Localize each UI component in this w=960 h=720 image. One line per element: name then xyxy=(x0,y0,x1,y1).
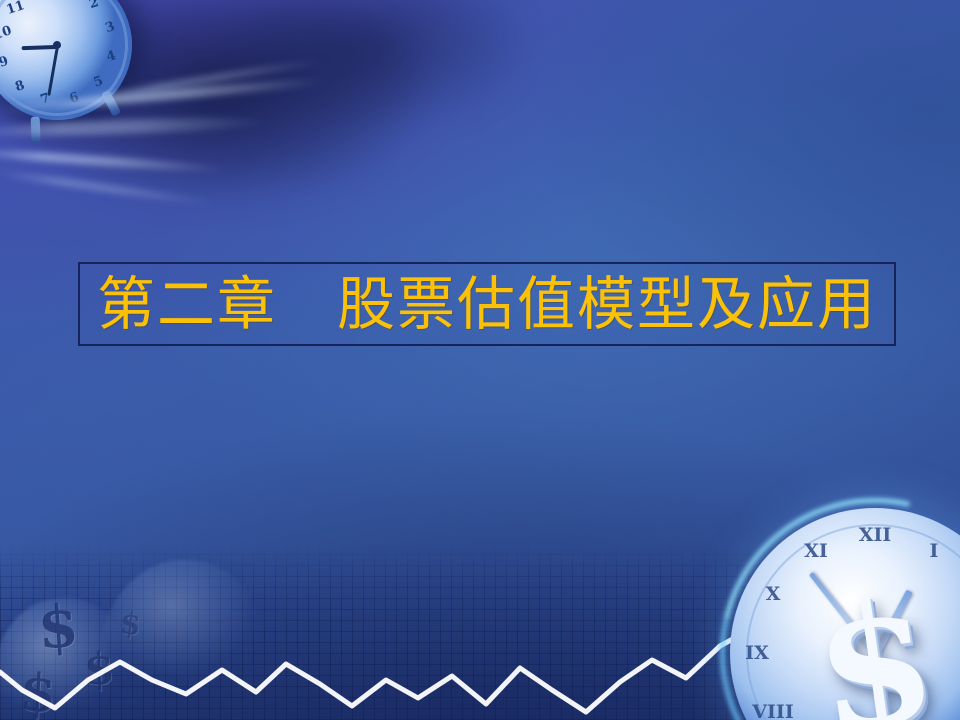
page-title: 第二章 股票估值模型及应用 xyxy=(97,275,877,333)
slide-canvas: 12 1 2 3 4 5 6 7 8 9 10 11 xyxy=(0,0,960,720)
roman-clock-dial: XII I II III IV V VI VII VIII IX X XI $ xyxy=(730,508,960,720)
light-streak xyxy=(0,115,270,139)
dollar-sign-3d-icon: $ xyxy=(805,573,944,720)
light-streak xyxy=(0,147,230,175)
light-streak xyxy=(0,168,219,208)
light-streaks xyxy=(0,60,580,290)
title-box: 第二章 股票估值模型及应用 xyxy=(78,262,896,346)
roman-clock-icon: XII I II III IV V VI VII VIII IX X XI $ xyxy=(730,508,960,720)
